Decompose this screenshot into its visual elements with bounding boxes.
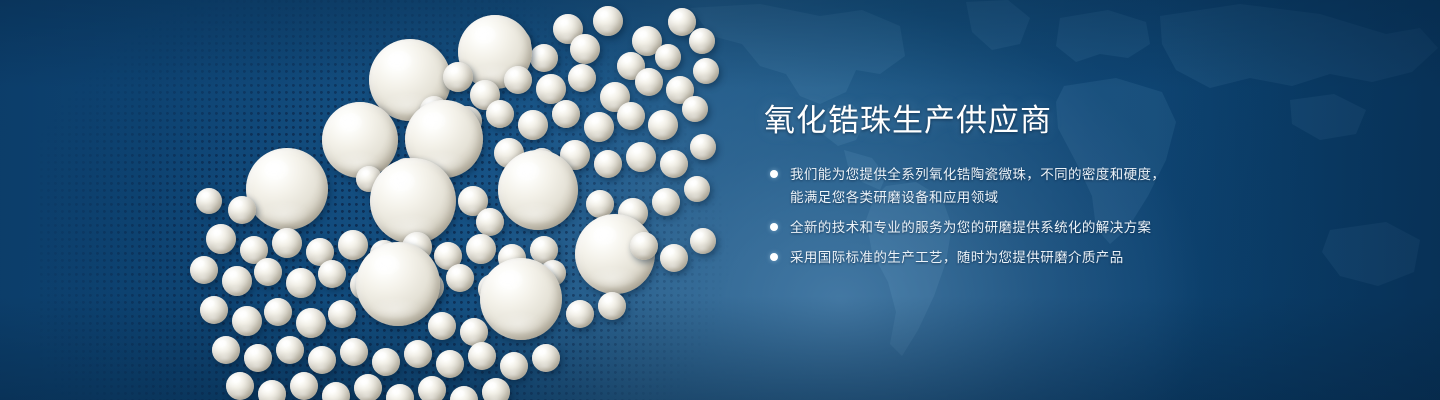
- ceramic-bead: [272, 228, 302, 258]
- ceramic-bead: [450, 386, 478, 400]
- bullet-dot-icon: [770, 170, 778, 178]
- ceramic-bead: [200, 296, 228, 324]
- ceramic-bead: [356, 242, 440, 326]
- ceramic-bead: [254, 258, 282, 286]
- ceramic-bead: [258, 380, 286, 400]
- ceramic-bead: [498, 150, 578, 230]
- hero-banner: 氧化锆珠生产供应商 我们能为您提供全系列氧化锆陶瓷微珠，不同的密度和硬度，能满足…: [0, 0, 1440, 400]
- ceramic-bead: [660, 150, 688, 178]
- feature-text-line: 采用国际标准的生产工艺，随时为您提供研磨介质产品: [790, 246, 1232, 269]
- ceramic-bead: [386, 384, 414, 400]
- ceramic-bead: [684, 176, 710, 202]
- ceramic-bead: [568, 64, 596, 92]
- ceramic-bead: [468, 342, 496, 370]
- ceramic-bead: [652, 188, 680, 216]
- ceramic-bead: [404, 340, 432, 368]
- ceramic-bead: [244, 344, 272, 372]
- ceramic-bead: [693, 58, 719, 84]
- ceramic-bead: [226, 372, 254, 400]
- feature-list: 我们能为您提供全系列氧化锆陶瓷微珠，不同的密度和硬度，能满足您各类研磨设备和应用…: [762, 163, 1232, 269]
- ceramic-bead: [552, 100, 580, 128]
- ceramic-bead: [372, 348, 400, 376]
- ceramic-bead: [196, 188, 222, 214]
- ceramic-bead: [566, 300, 594, 328]
- ceramic-bead: [584, 112, 614, 142]
- ceramic-bead: [518, 110, 548, 140]
- feature-list-item: 我们能为您提供全系列氧化锆陶瓷微珠，不同的密度和硬度，能满足您各类研磨设备和应用…: [762, 163, 1232, 209]
- ceramic-bead: [443, 62, 473, 92]
- ceramic-bead: [436, 350, 464, 378]
- ceramic-bead: [264, 298, 292, 326]
- ceramic-bead: [276, 336, 304, 364]
- ceramic-bead: [630, 232, 658, 260]
- ceramic-bead: [322, 382, 350, 400]
- ceramic-bead: [340, 338, 368, 366]
- ceramic-bead: [594, 150, 622, 178]
- ceramic-bead: [232, 306, 262, 336]
- ceramic-bead: [190, 256, 218, 284]
- ceramic-bead: [660, 244, 688, 272]
- ceramic-bead: [655, 44, 681, 70]
- feature-text-line: 能满足您各类研磨设备和应用领域: [790, 186, 1232, 209]
- feature-list-item: 采用国际标准的生产工艺，随时为您提供研磨介质产品: [762, 246, 1232, 269]
- ceramic-bead: [598, 292, 626, 320]
- feature-text-line: 全新的技术和专业的服务为您的研磨提供系统化的解决方案: [790, 216, 1232, 239]
- ceramic-bead: [308, 346, 336, 374]
- page-title: 氧化锆珠生产供应商: [764, 104, 1232, 139]
- ceramic-bead: [290, 372, 318, 400]
- ceramic-bead: [530, 44, 558, 72]
- ceramic-bead: [689, 28, 715, 54]
- ceramic-bead: [370, 158, 456, 244]
- ceramic-bead: [690, 228, 716, 254]
- ceramic-bead: [690, 134, 716, 160]
- ceramic-bead: [593, 6, 623, 36]
- ceramic-bead: [246, 148, 328, 230]
- ceramic-bead: [486, 100, 514, 128]
- ceramic-bead: [635, 68, 663, 96]
- ceramic-bead: [626, 142, 656, 172]
- ceramic-bead: [338, 230, 368, 260]
- feature-list-item: 全新的技术和专业的服务为您的研磨提供系统化的解决方案: [762, 216, 1232, 239]
- ceramic-bead: [286, 268, 316, 298]
- ceramic-bead: [296, 308, 326, 338]
- ceramic-bead: [648, 110, 678, 140]
- bullet-dot-icon: [770, 253, 778, 261]
- banner-copy: 氧化锆珠生产供应商 我们能为您提供全系列氧化锆陶瓷微珠，不同的密度和硬度，能满足…: [762, 104, 1232, 269]
- ceramic-bead: [617, 102, 645, 130]
- ceramic-bead: [500, 352, 528, 380]
- zirconia-bead-cluster-image: [0, 0, 760, 400]
- ceramic-bead: [480, 258, 562, 340]
- ceramic-bead: [354, 374, 382, 400]
- ceramic-bead: [206, 224, 236, 254]
- ceramic-bead: [482, 378, 510, 400]
- ceramic-bead: [532, 344, 560, 372]
- ceramic-bead: [428, 312, 456, 340]
- ceramic-bead: [504, 66, 532, 94]
- ceramic-bead: [682, 96, 708, 122]
- ceramic-bead: [418, 376, 446, 400]
- ceramic-bead: [476, 208, 504, 236]
- ceramic-bead: [212, 336, 240, 364]
- ceramic-bead: [222, 266, 252, 296]
- ceramic-bead: [446, 264, 474, 292]
- ceramic-bead: [228, 196, 256, 224]
- ceramic-bead: [318, 260, 346, 288]
- ceramic-bead: [466, 234, 496, 264]
- ceramic-bead: [570, 34, 600, 64]
- bullet-dot-icon: [770, 223, 778, 231]
- ceramic-bead: [328, 300, 356, 328]
- feature-text-line: 我们能为您提供全系列氧化锆陶瓷微珠，不同的密度和硬度，: [790, 163, 1232, 186]
